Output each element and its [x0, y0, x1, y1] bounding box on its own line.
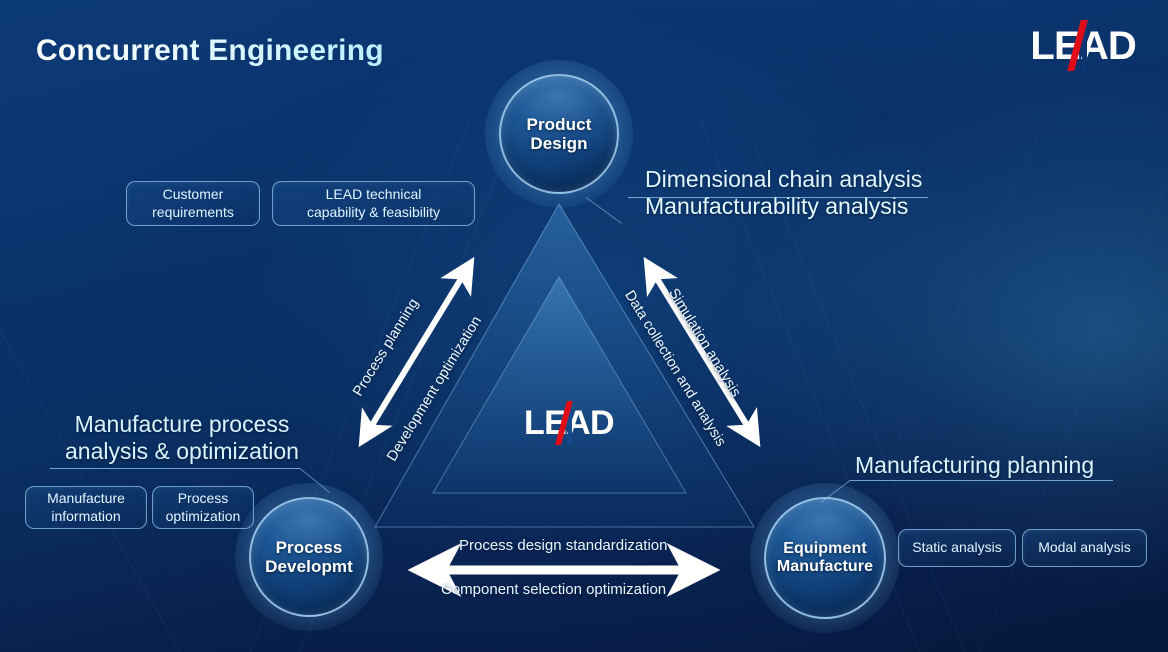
lead-logo-corner: LEAD [1030, 26, 1136, 66]
heading-manufacture-process: Manufacture process analysis & optimizat… [48, 411, 316, 465]
pill-text: Customer requirements [152, 186, 234, 220]
arrow-label-process-planning: Process planning [350, 296, 422, 399]
heading-leader-left [300, 468, 330, 493]
heading-line-analysis-optimization: analysis & optimization [48, 438, 316, 465]
page-title: Concurrent Engineering [36, 34, 384, 68]
heading-leader-right-top [586, 197, 622, 224]
pill-line-1: Customer [163, 186, 224, 202]
node-equipment-manufacture-label: Equipment Manufacture [777, 540, 873, 576]
pill-line-2: requirements [152, 204, 234, 220]
pill-text: Process optimization [166, 490, 241, 524]
node-product-design-label: Product Design [527, 115, 592, 153]
heading-rule-right-bottom [850, 480, 1113, 481]
node-line-1: Product [527, 115, 592, 134]
pill-text: Modal analysis [1038, 539, 1131, 556]
pill-line-2: capability & feasibility [307, 204, 440, 220]
heading-product-design-analyses: Dimensional chain analysis Manufacturabi… [645, 166, 922, 220]
node-process-development-label: Process Developmt [265, 538, 353, 576]
pill-lead-technical-capability[interactable]: LEAD technical capability & feasibility [272, 181, 475, 226]
node-process-development[interactable]: Process Developmt [249, 497, 369, 617]
node-line-1: Process [276, 538, 343, 557]
heading-line-dimensional-chain-analysis: Dimensional chain analysis [645, 166, 922, 193]
pill-line-2: optimization [166, 508, 241, 524]
slide-canvas: Concurrent Engineering LEAD LEAD [0, 0, 1168, 652]
arrow-label-process-design-standardization: Process design standardization [459, 537, 667, 554]
pill-static-analysis[interactable]: Static analysis [898, 529, 1016, 567]
node-equipment-manufacture[interactable]: Equipment Manufacture [764, 497, 886, 619]
node-product-design[interactable]: Product Design [499, 74, 619, 194]
node-line-2: Design [530, 134, 587, 153]
pill-customer-requirements[interactable]: Customer requirements [126, 181, 260, 226]
pill-text: Static analysis [912, 539, 1001, 556]
pill-text: LEAD technical capability & feasibility [307, 186, 440, 220]
node-line-2: Developmt [265, 557, 353, 576]
pill-manufacture-information[interactable]: Manufacture information [25, 486, 147, 529]
pill-line-1: Process [178, 490, 229, 506]
arrow-label-component-selection-optimization: Component selection optimization [441, 581, 666, 598]
pill-line-1: Manufacture [47, 490, 125, 506]
pill-text: Manufacture information [47, 490, 125, 524]
pill-modal-analysis[interactable]: Modal analysis [1022, 529, 1147, 567]
node-line-2: Manufacture [777, 558, 873, 575]
node-line-1: Equipment [783, 540, 867, 557]
pill-line-2: information [51, 508, 120, 524]
lead-logo-center: LEAD [524, 406, 614, 440]
heading-rule-left [50, 468, 300, 469]
pill-process-optimization[interactable]: Process optimization [152, 486, 254, 529]
heading-line-manufacture-process: Manufacture process [48, 411, 316, 438]
heading-manufacturing-planning: Manufacturing planning [855, 451, 1094, 479]
heading-rule-right-top [628, 197, 928, 198]
pill-line-1: LEAD technical [326, 186, 422, 202]
